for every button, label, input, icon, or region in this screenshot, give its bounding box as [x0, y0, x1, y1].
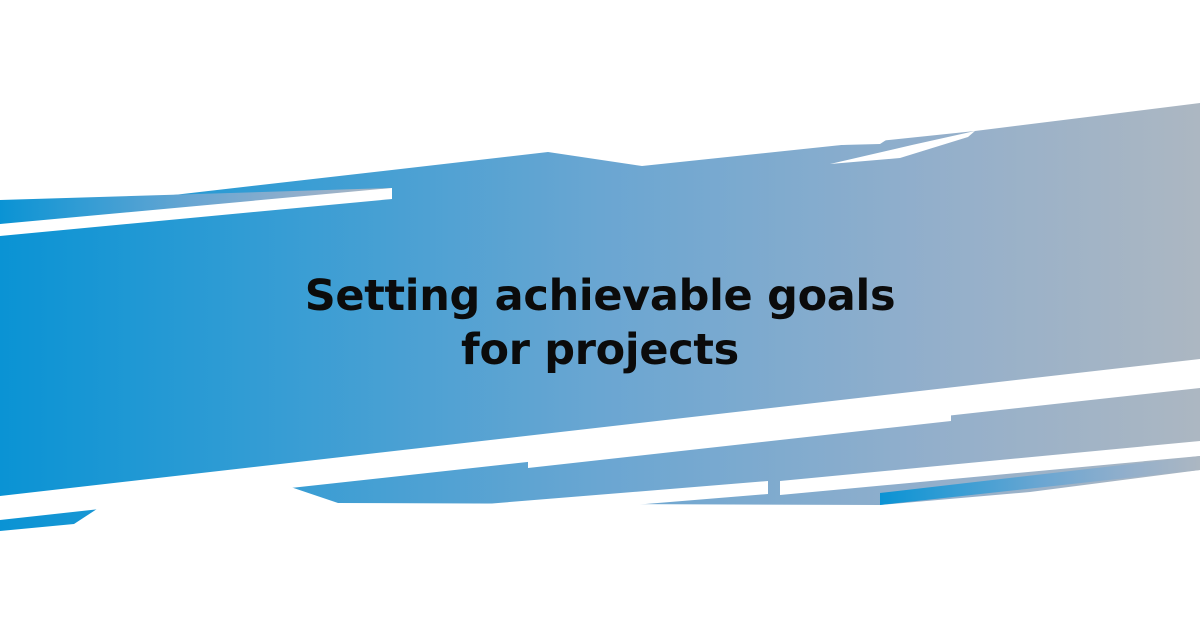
decorative-banner-artwork [0, 0, 1200, 630]
banner-canvas: Setting achievable goals for projects [0, 0, 1200, 630]
